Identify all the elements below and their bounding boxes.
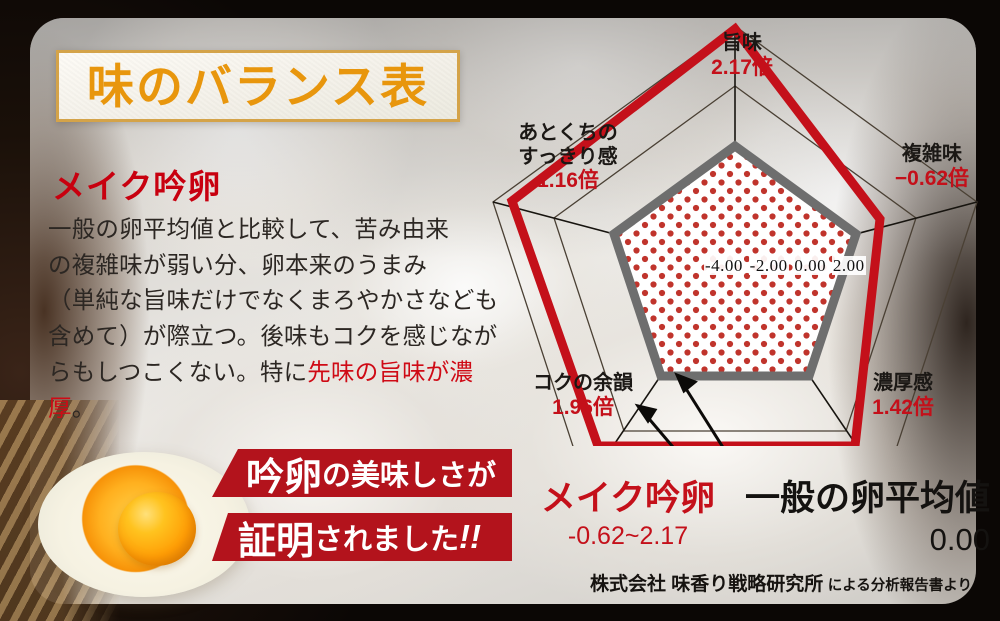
banner-2-big-text: 証明	[238, 510, 314, 565]
banner-proof-line-2: 証明 されました !!	[212, 513, 512, 561]
axis-label-aftertaste-name2: すっきり感	[488, 146, 648, 170]
tick--2: -2.00	[749, 256, 789, 275]
tick-2: 2.00	[832, 256, 866, 275]
description-line-3: （単純な旨味だけでなくまろやかさなども	[48, 283, 500, 319]
legend-make-ginran: メイク吟卵 -0.62~2.17	[524, 470, 732, 551]
axis-label-complex-name: 複雑味	[862, 143, 1000, 167]
source-organization: 株式会社 味香り戦略研究所	[590, 574, 823, 595]
source-suffix: による分析報告書より	[828, 578, 972, 594]
axis-label-koku: コクの余韻 1.96倍	[508, 372, 658, 420]
description-paragraph: 一般の卵平均値と比較して、苦み由来 の複雑味が弱い分、卵本来のうまみ （単純な旨…	[48, 212, 500, 426]
description-line-4: 含めて）が際立つ。後味もコクを感じなが	[48, 319, 500, 355]
description-line-5-end: 。	[72, 395, 96, 421]
infographic-root: 味のバランス表 メイク吟卵 一般の卵平均値と比較して、苦み由来 の複雑味が弱い分…	[0, 0, 1000, 621]
description-line-5: らもしつこくない。特に先味の旨味が濃厚。	[48, 355, 500, 426]
description-line-5-plain: らもしつこくない。特に	[48, 359, 307, 385]
legend-average-egg-value: 0.00	[728, 522, 990, 558]
banner-2-exclamation: !!	[459, 518, 481, 556]
axis-label-koku-value: 1.96倍	[508, 396, 658, 421]
legend-average-egg: 一般の卵平均値 0.00	[728, 470, 990, 558]
product-name-heading: メイク吟卵	[52, 160, 492, 208]
axis-label-richness-value: 1.42倍	[838, 396, 968, 421]
tick--4: -4.00	[704, 256, 744, 275]
legend-make-ginran-name: メイク吟卵	[524, 470, 732, 521]
axis-label-umami-name: 旨味	[672, 32, 812, 56]
axis-label-complex: 複雑味 −0.62倍	[862, 143, 1000, 191]
axis-label-richness: 濃厚感 1.42倍	[838, 372, 968, 420]
tick-0: 0.00	[793, 256, 827, 275]
radar-axis-tick-labels: -4.00 -2.00 0.00 2.00	[704, 256, 866, 276]
legend-make-ginran-value: -0.62~2.17	[524, 522, 732, 551]
banner-1-big-text: 吟卵	[246, 446, 322, 501]
source-credit: 株式会社 味香り戦略研究所 による分析報告書より	[590, 569, 990, 596]
axis-label-richness-name: 濃厚感	[838, 372, 968, 396]
description-line-1: 一般の卵平均値と比較して、苦み由来	[48, 212, 500, 248]
egg-yolk	[118, 492, 196, 566]
axis-label-aftertaste-value: 1.16倍	[488, 169, 648, 194]
description-line-2: の複雑味が弱い分、卵本来のうまみ	[48, 248, 500, 284]
axis-label-complex-value: −0.62倍	[862, 167, 1000, 192]
axis-label-aftertaste: あとくちの すっきり感 1.16倍	[488, 122, 648, 194]
axis-label-koku-name: コクの余韻	[508, 372, 658, 396]
banner-1-small-text: の美味しさが	[322, 452, 496, 494]
axis-label-aftertaste-name: あとくちの	[488, 122, 648, 146]
legend-average-egg-name: 一般の卵平均値	[728, 470, 990, 521]
banner-proof-line-1: 吟卵 の美味しさが	[212, 449, 512, 497]
page-title: 味のバランス表	[87, 63, 429, 110]
axis-label-umami-value: 2.17倍	[672, 56, 812, 81]
page-title-box: 味のバランス表	[56, 50, 460, 122]
axis-label-umami: 旨味 2.17倍	[672, 32, 812, 80]
banner-2-small-text: されました	[314, 516, 459, 558]
